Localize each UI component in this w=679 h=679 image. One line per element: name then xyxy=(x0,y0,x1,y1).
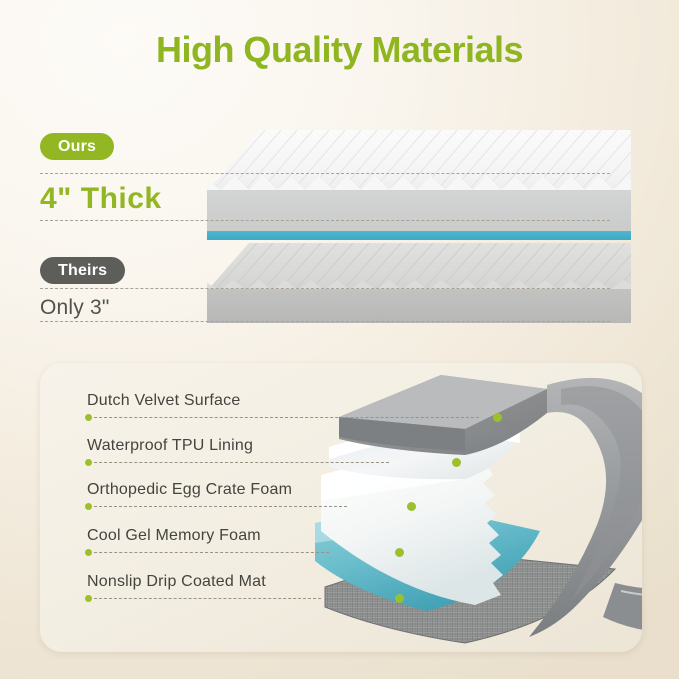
callout-dot-nonslip xyxy=(395,594,404,603)
callout-dot-velvet xyxy=(493,413,502,422)
mattress-layers-svg xyxy=(315,363,642,652)
theirs-badge: Theirs xyxy=(40,257,125,284)
feature-dot-left-3 xyxy=(85,503,92,510)
theirs-measure-line-top xyxy=(40,288,610,289)
feature-dot-left-1 xyxy=(85,414,92,421)
features-card: Dutch Velvet Surface Waterproof TPU Lini… xyxy=(40,363,642,652)
ours-egg-crate-edge xyxy=(207,174,631,190)
comparison-section: Ours 4" Thick Theirs Only 3" xyxy=(0,110,679,350)
theirs-mattress-body xyxy=(207,289,631,323)
feature-line-5 xyxy=(89,598,321,599)
feature-label-3: Orthopedic Egg Crate Foam xyxy=(87,481,292,499)
ours-thickness-label: 4" Thick xyxy=(40,182,162,216)
ours-measure-line-bottom xyxy=(40,220,610,221)
feature-line-4 xyxy=(89,552,329,553)
ours-zigzag-svg xyxy=(207,174,631,190)
feature-line-3 xyxy=(89,506,347,507)
feature-label-5: Nonslip Drip Coated Mat xyxy=(87,573,266,591)
callout-dot-tpu xyxy=(452,458,461,467)
feature-dot-left-4 xyxy=(85,549,92,556)
callout-dot-egg-crate xyxy=(407,502,416,511)
ours-badge: Ours xyxy=(40,133,114,160)
feature-label-4: Cool Gel Memory Foam xyxy=(87,527,261,545)
ours-measure-line-top xyxy=(40,173,610,174)
feature-label-1: Dutch Velvet Surface xyxy=(87,392,240,410)
ours-gel-layer xyxy=(207,231,631,240)
callout-dot-gel xyxy=(395,548,404,557)
feature-dot-left-5 xyxy=(85,595,92,602)
theirs-thickness-label: Only 3" xyxy=(40,296,110,320)
feature-line-1 xyxy=(89,417,479,418)
theirs-measure-line-bottom xyxy=(40,321,610,322)
infographic-root: High Quality Materials xyxy=(0,0,679,679)
feature-line-2 xyxy=(89,462,389,463)
feature-dot-left-2 xyxy=(85,459,92,466)
ours-mattress-illustration xyxy=(207,130,631,240)
feature-label-2: Waterproof TPU Lining xyxy=(87,437,253,455)
mattress-layers-illustration xyxy=(315,363,642,652)
theirs-mattress-illustration xyxy=(207,243,631,323)
page-title: High Quality Materials xyxy=(0,26,679,74)
